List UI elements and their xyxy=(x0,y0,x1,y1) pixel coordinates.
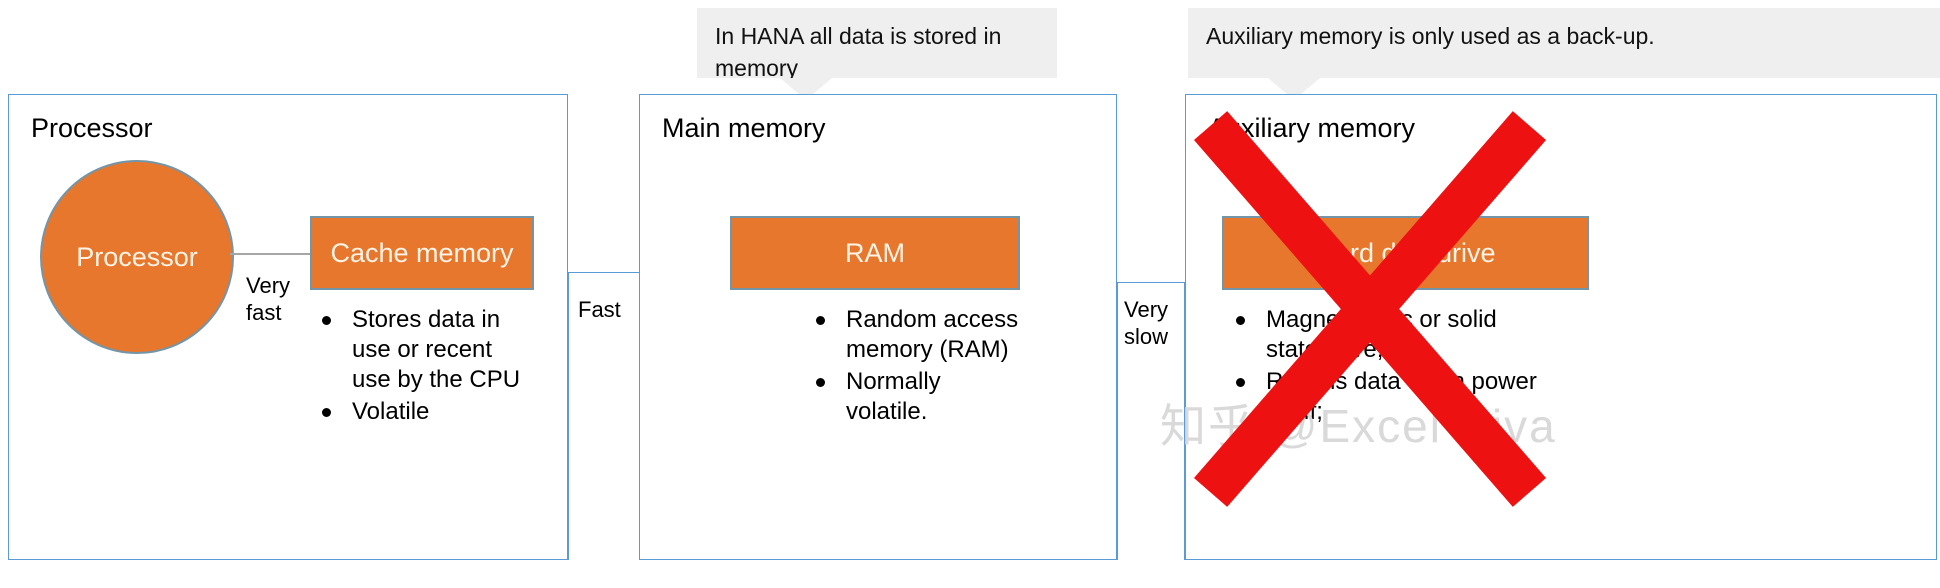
bridge-processor-main-top xyxy=(568,272,640,273)
panel-processor-title: Processor xyxy=(31,113,153,144)
ram-box: RAM xyxy=(730,216,1020,290)
callout-hana: In HANA all data is stored in memory xyxy=(697,8,1057,78)
processor-cache-connector xyxy=(230,253,312,255)
panel-main-memory-bullets: Random access memory (RAM) Normally vola… xyxy=(812,305,1027,429)
processor-circle: Processor xyxy=(40,160,234,354)
callout-hana-text: In HANA all data is stored in memory xyxy=(715,23,1001,81)
list-item: Random access memory (RAM) xyxy=(812,305,1027,365)
callout-auxiliary: Auxiliary memory is only used as a back-… xyxy=(1188,8,1940,78)
connector-label-very-fast: Very fast xyxy=(246,272,302,326)
hard-disc-drive-label: Hard disc drive xyxy=(1315,238,1495,269)
cache-memory-label: Cache memory xyxy=(330,238,513,269)
list-item: Normally volatile. xyxy=(812,367,1027,427)
panel-main-memory-title: Main memory xyxy=(662,113,826,144)
hard-disc-drive-box: Hard disc drive xyxy=(1222,216,1589,290)
watermark: 知乎 @Excel Diva xyxy=(1160,390,1557,456)
list-item: Stores data in use or recent use by the … xyxy=(318,305,528,395)
processor-circle-label: Processor xyxy=(76,242,198,273)
list-item: Volatile xyxy=(318,397,528,427)
list-item: Magnetic disc or solid state drive; xyxy=(1232,305,1552,365)
ram-label: RAM xyxy=(845,238,905,269)
panel-auxiliary-memory-title: Auxiliary memory xyxy=(1208,113,1415,144)
callout-auxiliary-text: Auxiliary memory is only used as a back-… xyxy=(1206,23,1655,49)
connector-label-fast: Fast xyxy=(578,296,638,323)
cache-memory-box: Cache memory xyxy=(310,216,534,290)
panel-processor-bullets: Stores data in use or recent use by the … xyxy=(318,305,528,429)
connector-label-very-slow: Very slow xyxy=(1124,296,1184,350)
bridge-main-auxiliary-top xyxy=(1117,282,1185,283)
